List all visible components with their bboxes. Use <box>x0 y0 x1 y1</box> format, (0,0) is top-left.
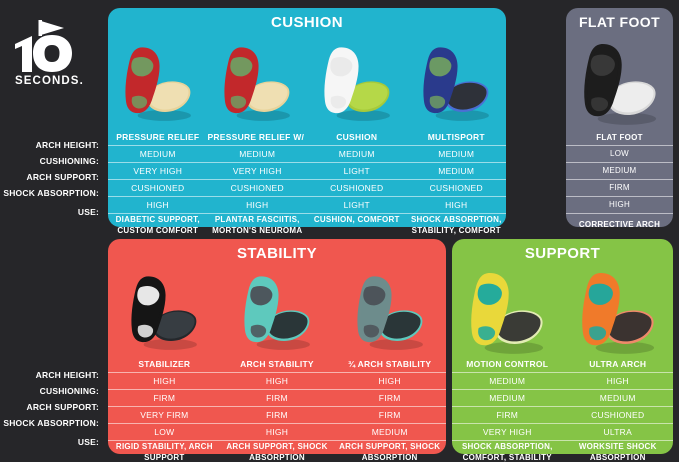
insole-icon <box>316 38 398 124</box>
table-cell-arch-height: HIGH <box>333 373 446 389</box>
table-cell-shock-absorption: HIGH <box>566 197 673 213</box>
row-label-use: USE: <box>0 431 104 453</box>
row-label-use: USE: <box>0 201 104 223</box>
table-cell-shock-absorption: LIGHT <box>307 197 407 213</box>
table-header-row: PRESSURE RELIEFPRESSURE RELIEF W/ MET PA… <box>108 130 506 145</box>
table-row-use: SHOCK ABSORPTION, COMFORT, STABILITYWORK… <box>452 440 673 462</box>
table-cell-cushioning: FIRM <box>333 390 446 406</box>
insole-icon <box>236 267 318 353</box>
insole-icon <box>117 38 199 124</box>
table-row: CUSHIONEDCUSHIONEDCUSHIONEDCUSHIONED <box>108 179 506 196</box>
table-row-use: RIGID STABILITY, ARCH SUPPORTARCH SUPPOR… <box>108 440 446 462</box>
table-cell-shock-absorption: LOW <box>108 424 221 440</box>
product-images-stability <box>108 263 446 357</box>
product-images-cushion <box>108 32 506 130</box>
table-cell-shock-absorption: HIGH <box>221 424 334 440</box>
table-row: FIRMFIRMFIRM <box>108 389 446 406</box>
table-cell-arch-support: CUSHIONED <box>208 180 308 196</box>
product-image-cell <box>108 263 221 357</box>
insole-icon <box>349 267 431 353</box>
table-cell-arch-height: MEDIUM <box>407 146 507 162</box>
table-row: HIGHHIGHLIGHTHIGH <box>108 196 506 213</box>
table-stability: STABILIZERARCH STABILITY¾ ARCH STABILITY… <box>108 357 446 462</box>
table-cell-use: DIABETIC SUPPORT, CUSTOM COMFORT <box>108 214 208 236</box>
table-cell-arch-height: HIGH <box>108 373 221 389</box>
table-cell-arch-height: MEDIUM <box>208 146 308 162</box>
table-cell-use: ARCH SUPPORT, SHOCK ABSORPTION <box>221 441 334 462</box>
row-label-arch-height: ARCH HEIGHT: <box>0 137 104 153</box>
insole-icon <box>462 263 552 358</box>
table-row: VERY FIRMFIRMFIRM <box>108 406 446 423</box>
table-row: MEDIUM <box>566 162 673 179</box>
row-label-arch-support: ARCH SUPPORT: <box>0 399 104 415</box>
product-image-cell <box>307 32 407 130</box>
table-row: LOWHIGHMEDIUM <box>108 423 446 440</box>
table-cell-arch-support: FIRM <box>333 407 446 423</box>
table-row: MEDIUMMEDIUM <box>452 389 673 406</box>
table-cell-arch-support: CUSHIONED <box>108 180 208 196</box>
row-labels-bottom: ARCH HEIGHT: CUSHIONING: ARCH SUPPORT: S… <box>0 367 104 453</box>
table-cell-arch-support: CUSHIONED <box>307 180 407 196</box>
table-cell-cushioning: MEDIUM <box>452 390 563 406</box>
table-cell-arch-support: CUSHIONED <box>563 407 674 423</box>
table-row: MEDIUMHIGH <box>452 372 673 389</box>
table-row: LOW <box>566 145 673 162</box>
column-header: PRESSURE RELIEF <box>108 130 208 145</box>
product-image-cell <box>221 263 334 357</box>
panel-cushion: CUSHION PRESSURE RELIEFPRESSURE RELIEF W… <box>108 8 506 227</box>
table-cell-shock-absorption: HIGH <box>407 197 507 213</box>
table-flat-foot: FLAT FOOTLOWMEDIUMFIRMHIGHCORRECTIVE ARC… <box>566 130 673 236</box>
column-header: MULTISPORT <box>407 130 507 145</box>
product-image-cell <box>452 263 563 357</box>
ten-seconds-logo-icon: SECONDS. <box>10 18 98 86</box>
column-header: PRESSURE RELIEF W/ MET PAD <box>208 130 308 145</box>
table-cell-cushioning: LIGHT <box>307 163 407 179</box>
row-labels-top: ARCH HEIGHT: CUSHIONING: ARCH SUPPORT: S… <box>0 137 104 223</box>
row-label-arch-support: ARCH SUPPORT: <box>0 169 104 185</box>
table-cell-arch-support: FIRM <box>566 180 673 196</box>
table-row: FIRM <box>566 179 673 196</box>
product-image-cell <box>208 32 308 130</box>
comparison-chart: SECONDS. ARCH HEIGHT: CUSHIONING: ARCH S… <box>0 0 679 462</box>
table-row-use: DIABETIC SUPPORT, CUSTOM COMFORTPLANTAR … <box>108 213 506 236</box>
table-row: HIGH <box>566 196 673 213</box>
column-header: ULTRA ARCH <box>563 357 674 372</box>
svg-text:SECONDS.: SECONDS. <box>15 75 84 86</box>
table-cell-shock-absorption: MEDIUM <box>333 424 446 440</box>
row-label-shock-absorption: SHOCK ABSORPTION: <box>0 185 104 201</box>
column-header: FLAT FOOT <box>566 130 673 145</box>
table-cell-use: RIGID STABILITY, ARCH SUPPORT <box>108 441 221 462</box>
table-cell-shock-absorption: VERY HIGH <box>452 424 563 440</box>
table-cell-cushioning: MEDIUM <box>566 163 673 179</box>
table-cell-use: SHOCK ABSORPTION, COMFORT, STABILITY <box>452 441 563 462</box>
table-cell-use: PLANTAR FASCIITIS, MORTON'S NEUROMA <box>208 214 308 236</box>
table-cell-arch-height: HIGH <box>221 373 334 389</box>
table-header-row: FLAT FOOT <box>566 130 673 145</box>
panel-title-flat-foot: FLAT FOOT <box>566 14 673 30</box>
table-cell-cushioning: MEDIUM <box>563 390 674 406</box>
table-cell-cushioning: MEDIUM <box>407 163 507 179</box>
table-cell-use: WORKSITE SHOCK ABSORPTION <box>563 441 674 462</box>
table-cushion: PRESSURE RELIEFPRESSURE RELIEF W/ MET PA… <box>108 130 506 236</box>
table-cell-arch-support: VERY FIRM <box>108 407 221 423</box>
panel-flat-foot: FLAT FOOT FLAT FOOTLOWMEDIUMFIRMHIGHCORR… <box>566 8 673 227</box>
table-cell-arch-height: MEDIUM <box>452 373 563 389</box>
table-row: HIGHHIGHHIGH <box>108 372 446 389</box>
table-row: FIRMCUSHIONED <box>452 406 673 423</box>
table-cell-shock-absorption: HIGH <box>108 197 208 213</box>
table-cell-use: SHOCK ABSORPTION, STABILITY, COMFORT <box>407 214 507 236</box>
panel-stability: STABILITY STABILIZERARCH STABILITY¾ ARCH… <box>108 239 446 454</box>
table-cell-use: ARCH SUPPORT, SHOCK ABSORPTION <box>333 441 446 462</box>
table-cell-arch-support: FIRM <box>452 407 563 423</box>
table-cell-arch-support: CUSHIONED <box>407 180 507 196</box>
table-support: MOTION CONTROLULTRA ARCHMEDIUMHIGHMEDIUM… <box>452 357 673 462</box>
insole-icon <box>216 38 298 124</box>
table-cell-use: CORRECTIVE ARCH <box>566 214 673 236</box>
product-image-cell <box>108 32 208 130</box>
table-cell-shock-absorption: HIGH <box>208 197 308 213</box>
insole-icon <box>575 34 665 129</box>
table-cell-arch-height: MEDIUM <box>307 146 407 162</box>
product-image-cell <box>333 263 446 357</box>
table-cell-cushioning: VERY HIGH <box>208 163 308 179</box>
table-cell-cushioning: FIRM <box>221 390 334 406</box>
panel-title-support: SUPPORT <box>452 245 673 262</box>
insole-icon <box>573 263 663 358</box>
product-images-support <box>452 263 673 357</box>
table-row: MEDIUMMEDIUMMEDIUMMEDIUM <box>108 145 506 162</box>
table-cell-arch-height: MEDIUM <box>108 146 208 162</box>
table-cell-arch-height: LOW <box>566 146 673 162</box>
product-image-cell <box>566 32 673 130</box>
table-cell-use: CUSHION, COMFORT <box>307 214 407 236</box>
row-label-cushioning: CUSHIONING: <box>0 383 104 399</box>
table-cell-arch-height: HIGH <box>563 373 674 389</box>
panel-title-stability: STABILITY <box>108 245 446 262</box>
panel-support: SUPPORT MOTION CONTROLULTRA ARCHMEDIUMHI… <box>452 239 673 454</box>
table-cell-arch-support: FIRM <box>221 407 334 423</box>
product-image-cell <box>407 32 507 130</box>
column-header: STABILIZER <box>108 357 221 372</box>
row-label-arch-height: ARCH HEIGHT: <box>0 367 104 383</box>
column-header: CUSHION <box>307 130 407 145</box>
column-header: MOTION CONTROL <box>452 357 563 372</box>
table-cell-shock-absorption: ULTRA <box>563 424 674 440</box>
table-cell-cushioning: VERY HIGH <box>108 163 208 179</box>
panel-title-cushion: CUSHION <box>108 14 506 31</box>
row-label-shock-absorption: SHOCK ABSORPTION: <box>0 415 104 431</box>
table-cell-cushioning: FIRM <box>108 390 221 406</box>
table-row: VERY HIGHULTRA <box>452 423 673 440</box>
table-row: VERY HIGHVERY HIGHLIGHTMEDIUM <box>108 162 506 179</box>
insole-icon <box>415 38 497 124</box>
table-header-row: STABILIZERARCH STABILITY¾ ARCH STABILITY <box>108 357 446 372</box>
table-row-use: CORRECTIVE ARCH <box>566 213 673 236</box>
table-header-row: MOTION CONTROLULTRA ARCH <box>452 357 673 372</box>
column-header: ¾ ARCH STABILITY <box>333 357 446 372</box>
product-image-cell <box>563 263 674 357</box>
product-images-flat-foot <box>566 32 673 130</box>
brand-logo: SECONDS. <box>10 18 98 86</box>
insole-icon <box>123 267 205 353</box>
column-header: ARCH STABILITY <box>221 357 334 372</box>
row-label-cushioning: CUSHIONING: <box>0 153 104 169</box>
